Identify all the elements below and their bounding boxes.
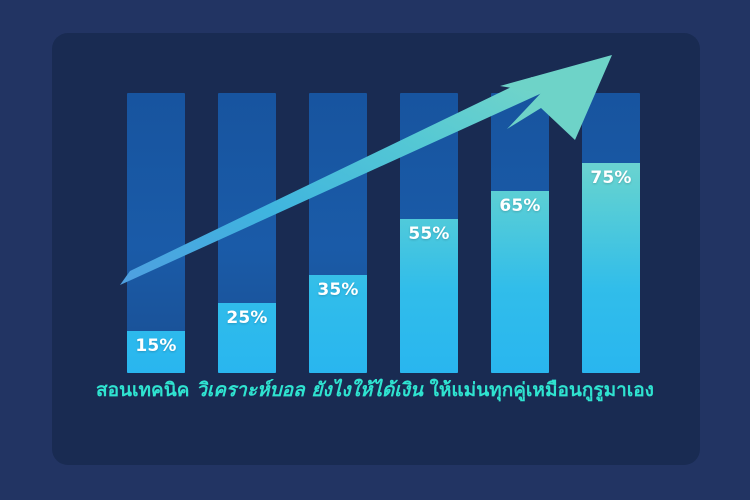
bar-track: 65% — [491, 93, 549, 373]
bar-track: 55% — [400, 93, 458, 373]
bar-track: 25% — [218, 93, 276, 373]
bar-value-label: 35% — [309, 280, 367, 300]
bar-value-label: 65% — [491, 196, 549, 216]
bar-fill — [582, 163, 640, 373]
bar-track: 75% — [582, 93, 640, 373]
bar-value-label: 55% — [400, 224, 458, 244]
bar-value-label: 75% — [582, 168, 640, 188]
bar-track: 35% — [309, 93, 367, 373]
bar-fill — [491, 191, 549, 373]
bar-value-label: 25% — [218, 308, 276, 328]
caption: สอนเทคนิค วิเคราะห์บอล ยังไงให้ได้เงิน ใ… — [0, 381, 750, 400]
bar-chart: 15% 25% 35% 55% 65% — [127, 93, 640, 373]
bar-track: 15% — [127, 93, 185, 373]
screenshot-stage: 15% 25% 35% 55% 65% — [0, 0, 750, 500]
caption-segment-1: สอนเทคนิค — [96, 379, 196, 401]
bar-value-label: 15% — [127, 336, 185, 356]
caption-segment-2: วิเคราะห์บอล ยังไงให้ได้เงิน — [196, 379, 430, 401]
caption-segment-3: ให้แม่นทุกคู่เหมือนกูรูมาเอง — [430, 379, 654, 401]
